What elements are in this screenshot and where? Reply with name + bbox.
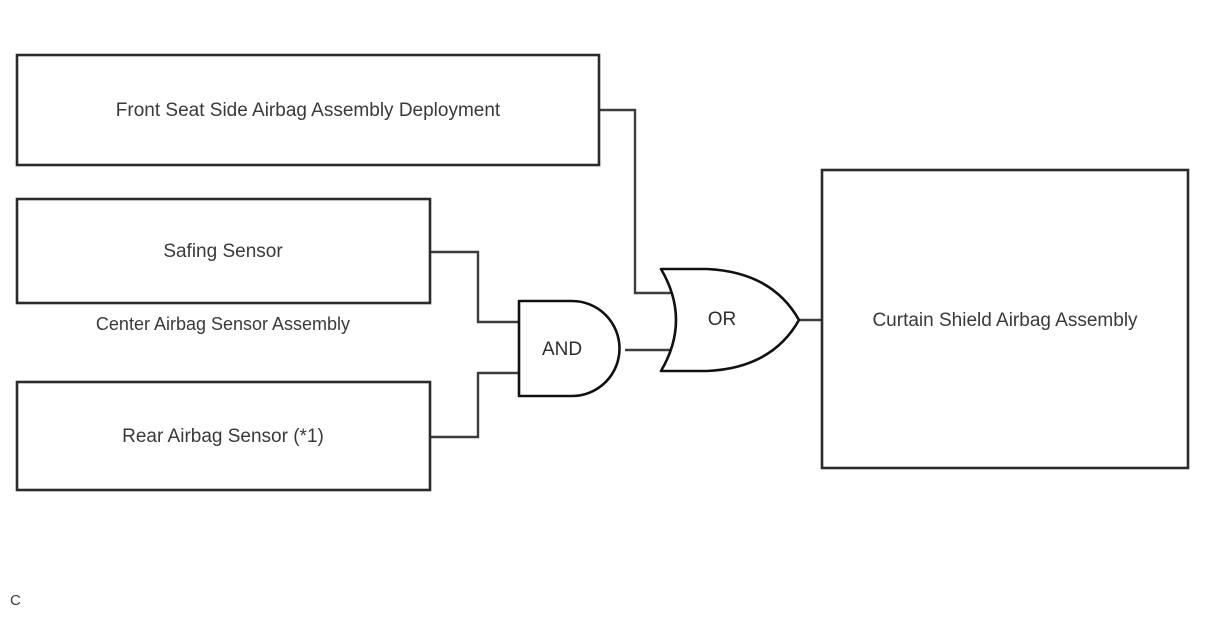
group-label-center-airbag-sensor-assembly: Center Airbag Sensor Assembly — [96, 314, 350, 334]
node-label-front-seat-side-airbag: Front Seat Side Airbag Assembly Deployme… — [116, 100, 501, 121]
and-gate[interactable]: AND — [519, 301, 620, 396]
node-label-rear-airbag-sensor: Rear Airbag Sensor (*1) — [122, 426, 324, 447]
corner-mark: C — [10, 592, 21, 609]
or-gate-label: OR — [708, 309, 737, 330]
node-label-safing-sensor: Safing Sensor — [163, 241, 283, 262]
node-label-curtain-shield-airbag: Curtain Shield Airbag Assembly — [872, 310, 1138, 331]
and-gate-label: AND — [542, 339, 582, 360]
node-safing-sensor[interactable]: Safing Sensor — [17, 199, 430, 303]
or-gate[interactable]: OR — [661, 269, 799, 371]
wire-safing-to-and — [430, 252, 518, 322]
node-rear-airbag-sensor[interactable]: Rear Airbag Sensor (*1) — [17, 382, 430, 490]
wire-rear-to-and — [430, 373, 518, 437]
logic-diagram: Front Seat Side Airbag Assembly Deployme… — [0, 0, 1206, 642]
node-curtain-shield-airbag[interactable]: Curtain Shield Airbag Assembly — [822, 170, 1188, 468]
diagram-canvas: Front Seat Side Airbag Assembly Deployme… — [0, 0, 1206, 642]
node-front-seat-side-airbag[interactable]: Front Seat Side Airbag Assembly Deployme… — [17, 55, 599, 165]
wire-front-seat-to-or — [599, 110, 672, 293]
